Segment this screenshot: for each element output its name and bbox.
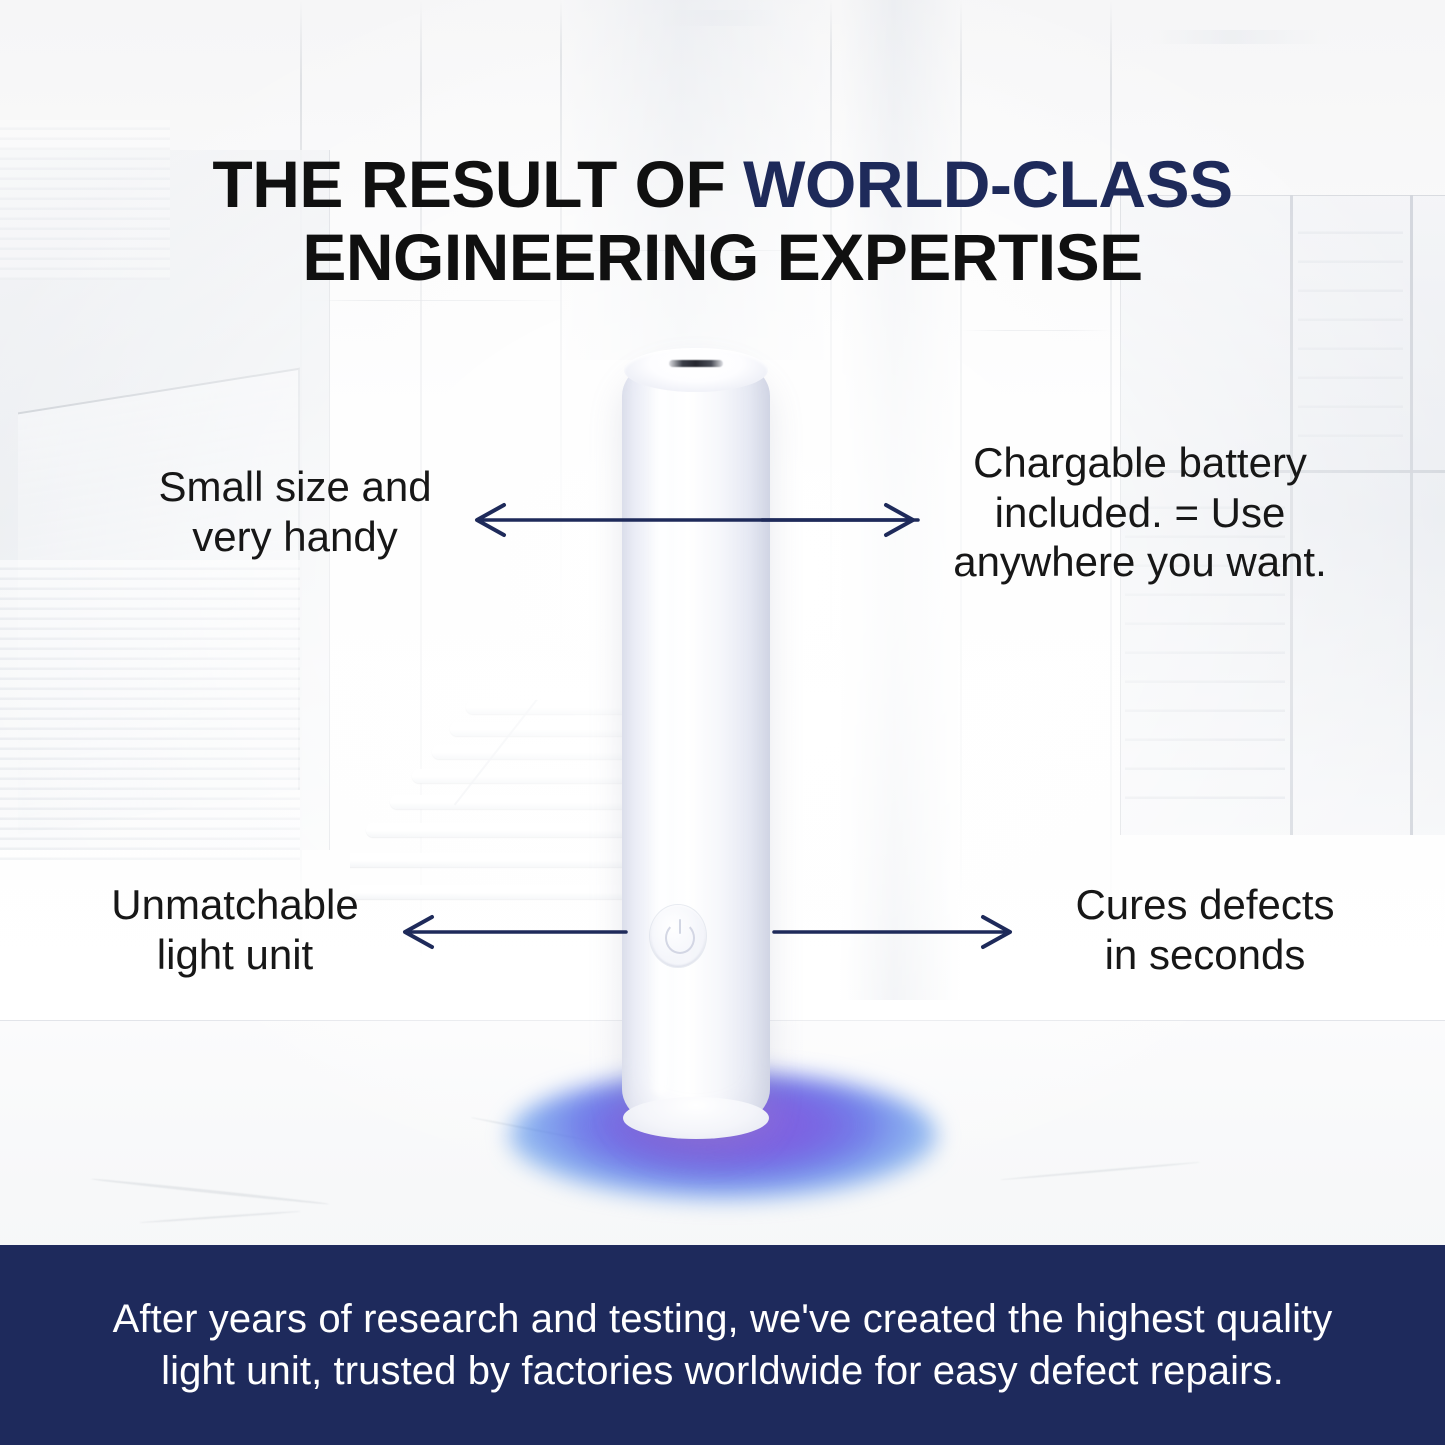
callout-small-size: Small size and very handy <box>60 462 530 561</box>
page-title: THE RESULT OF WORLD-CLASS ENGINEERING EX… <box>0 148 1445 293</box>
banner-text: After years of research and testing, we'… <box>63 1293 1383 1397</box>
device-body <box>622 350 770 1135</box>
arrow-left-bottom <box>398 912 628 952</box>
headline-line-2: ENGINEERING EXPERTISE <box>302 220 1142 294</box>
device-bottom-cap <box>623 1097 769 1139</box>
arrow-right-bottom <box>772 912 1017 952</box>
product-infographic: THE RESULT OF WORLD-CLASS ENGINEERING EX… <box>0 0 1445 1445</box>
headline-line-1: THE RESULT OF WORLD-CLASS <box>212 147 1232 221</box>
arrow-right-top <box>760 500 920 540</box>
product-device <box>622 350 770 1135</box>
callout-chargable-battery: Chargable battery included. = Use anywhe… <box>905 438 1375 587</box>
headline-plain-text: THE RESULT OF <box>212 147 743 221</box>
device-led-aperture <box>669 360 723 367</box>
headline-accent-text: WORLD-CLASS <box>743 147 1232 221</box>
power-icon <box>665 922 695 954</box>
callout-cures-defects: Cures defects in seconds <box>1015 880 1395 979</box>
device-top-cap <box>624 348 768 392</box>
power-button[interactable] <box>650 905 706 967</box>
callout-unmatchable-light-unit: Unmatchable light unit <box>40 880 430 979</box>
bottom-banner: After years of research and testing, we'… <box>0 1245 1445 1445</box>
device-highlight <box>648 376 674 1095</box>
